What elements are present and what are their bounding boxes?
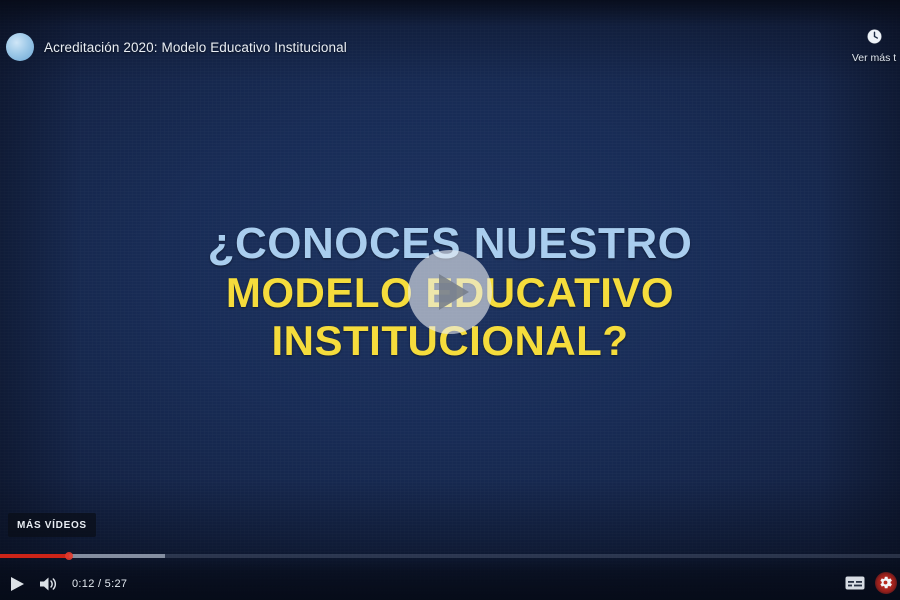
subtitles-button[interactable] (845, 576, 865, 590)
video-player[interactable]: ¿CONOCES NUESTRO MODELO EDUCATIVO INSTIT… (0, 0, 900, 600)
player-control-bar[interactable]: 0:12 / 5:27 (0, 552, 900, 600)
clock-icon (842, 28, 900, 45)
time-display: 0:12 / 5:27 (72, 578, 127, 590)
play-icon (439, 274, 469, 310)
more-videos-button[interactable]: MÁS VÍDEOS (8, 513, 96, 537)
more-videos-label: MÁS VÍDEOS (17, 520, 87, 531)
play-button[interactable] (10, 576, 25, 592)
watch-later-label: Ver más t (852, 52, 896, 64)
settings-button[interactable] (877, 574, 894, 591)
avatar[interactable] (6, 33, 34, 61)
video-info-group[interactable]: Acreditación 2020: Modelo Educativo Inst… (6, 33, 347, 61)
watch-later-button[interactable]: Ver más t (842, 28, 900, 66)
controls-right-group (845, 574, 894, 591)
progress-bar[interactable] (0, 554, 900, 558)
center-play-button[interactable] (408, 250, 492, 334)
video-title[interactable]: Acreditación 2020: Modelo Educativo Inst… (44, 40, 347, 55)
volume-button[interactable] (39, 576, 58, 592)
progress-scrubber[interactable] (65, 552, 73, 560)
controls-left-group: 0:12 / 5:27 (10, 576, 127, 592)
progress-played (0, 554, 69, 558)
